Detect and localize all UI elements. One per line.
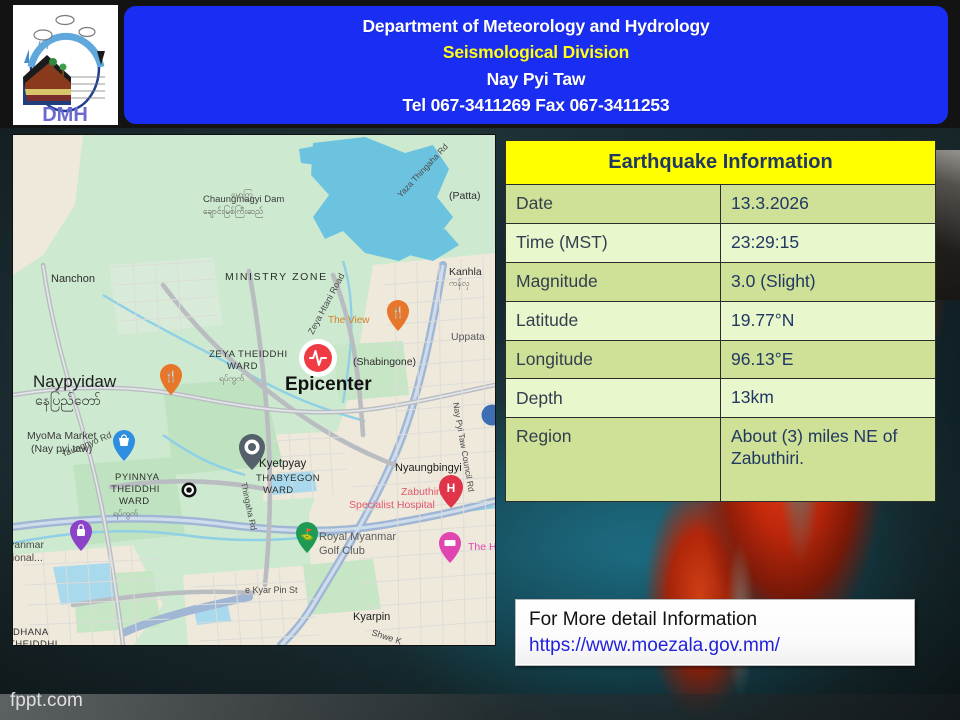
map-label-dhana-2: THEIDDHI [13, 639, 58, 645]
dmh-logo-caption: DMH [42, 104, 88, 125]
row-key-time: Time (MST) [506, 223, 721, 262]
fork-knife-icon: 🍴 [391, 306, 405, 319]
map-label-uppata: Uppata [451, 331, 485, 343]
table-row: Magnitude 3.0 (Slight) [506, 262, 936, 301]
row-key-magnitude: Magnitude [506, 262, 721, 301]
map-label-nyaungbingyi: Nyaungbingyi [395, 462, 462, 474]
map-label-thabyegon-2: WARD [263, 485, 294, 496]
map-poi-point-of-interest[interactable] [182, 483, 197, 498]
map-road-kyar-pin: e Kyar Pin St [245, 585, 298, 595]
map-label-golf-2: Golf Club [319, 545, 365, 557]
header-line-contact: Tel 067-3411269 Fax 067-3411253 [403, 97, 670, 115]
map-image[interactable]: Chaungmagyi Dam ချောင်းမြစ်ကြီးဆည် Nanch… [13, 135, 495, 645]
row-value-depth: 13km [721, 379, 936, 418]
hospital-h-icon: H [447, 481, 456, 495]
map-label-patta: (Patta) [449, 190, 481, 202]
table-row: Longitude 96.13°E [506, 340, 936, 379]
epicenter-label: Epicenter [285, 374, 372, 395]
map-label-dhana-1: DHANA [13, 627, 49, 638]
row-key-latitude: Latitude [506, 301, 721, 340]
map-label-ministry-zone: MINISTRY ZONE [225, 271, 328, 283]
header-line-division: Seismological Division [443, 44, 629, 62]
table-title: Earthquake Information [506, 141, 936, 185]
epicenter-marker[interactable] [299, 339, 337, 377]
row-key-date: Date [506, 185, 721, 224]
more-info-link[interactable]: https://www.moezala.gov.mm/ [529, 633, 914, 659]
map-label-pyinnya-3: WARD [119, 496, 150, 507]
map-label-shabingone: (Shabingone) [353, 356, 416, 368]
table-row: Time (MST) 23:29:15 [506, 223, 936, 262]
header-line-department: Department of Meteorology and Hydrology [362, 18, 709, 36]
map-label-kyarpin: Kyarpin [353, 611, 390, 623]
map-panel[interactable]: Chaungmagyi Dam ချောင်းမြစ်ကြီးဆည် Nanch… [13, 135, 495, 645]
map-label-pyinnya-1: PYINNYA [115, 472, 160, 483]
map-label-intl-2: tional... [13, 552, 43, 564]
map-label-zeya-theiddhi: ZEYA THEIDDHI [209, 349, 288, 360]
row-value-time: 23:29:15 [721, 223, 936, 262]
dmh-logo-icon: DMH [13, 5, 118, 125]
row-value-latitude: 19.77°N [721, 301, 936, 340]
map-label-zeya-ward: WARD [227, 361, 258, 372]
table-row: Latitude 19.77°N [506, 301, 936, 340]
row-value-longitude: 96.13°E [721, 340, 936, 379]
header-line-city: Nay Pyi Taw [487, 71, 586, 89]
map-label-naypyidaw: Naypyidaw [33, 372, 117, 391]
row-key-region: Region [506, 418, 721, 502]
map-label-nanchon: Nanchon [51, 273, 95, 285]
map-label-golf-1: Royal Myanmar [319, 531, 396, 543]
map-label-kyetpyay: Kyetpyay [259, 458, 307, 470]
map-label-intl-1: yanmar [13, 539, 45, 551]
row-value-magnitude: 3.0 (Slight) [721, 262, 936, 301]
map-label-kanhla: Kanhla [449, 266, 482, 278]
more-info-label: For More detail Information [529, 607, 914, 633]
map-label-hotel: The Ho [468, 541, 495, 553]
row-value-region: About (3) miles NE of Zabuthiri. [721, 418, 936, 502]
more-info-box: For More detail Information https://www.… [515, 599, 915, 666]
row-value-date: 13.3.2026 [721, 185, 936, 224]
earthquake-info-table: Earthquake Information Date 13.3.2026 Ti… [505, 140, 936, 502]
watermark: fppt.com [10, 690, 83, 712]
row-key-longitude: Longitude [506, 340, 721, 379]
fork-knife-icon: 🍴 [164, 370, 178, 383]
map-label-pyinnya-2: THEIDDHI [111, 484, 160, 495]
table-row: Region About (3) miles NE of Zabuthiri. [506, 418, 936, 502]
header-bar: DMH Department of Meteorology and Hydrol… [0, 0, 960, 128]
golf-flag-icon: ⛳ [300, 528, 314, 541]
map-label-hospital-1: Zabuthiri [401, 486, 442, 498]
map-label-the-view: The View [328, 315, 370, 326]
header-title-panel: Department of Meteorology and Hydrology … [124, 6, 948, 124]
background-bottom-band [0, 694, 960, 720]
map-label-thabyegon-1: THABYEGON [256, 473, 320, 484]
map-label-hospital-2: Specialist Hospital [349, 499, 435, 511]
row-key-depth: Depth [506, 379, 721, 418]
table-row: Date 13.3.2026 [506, 185, 936, 224]
dmh-logo: DMH [13, 5, 118, 125]
table-row: Depth 13km [506, 379, 936, 418]
